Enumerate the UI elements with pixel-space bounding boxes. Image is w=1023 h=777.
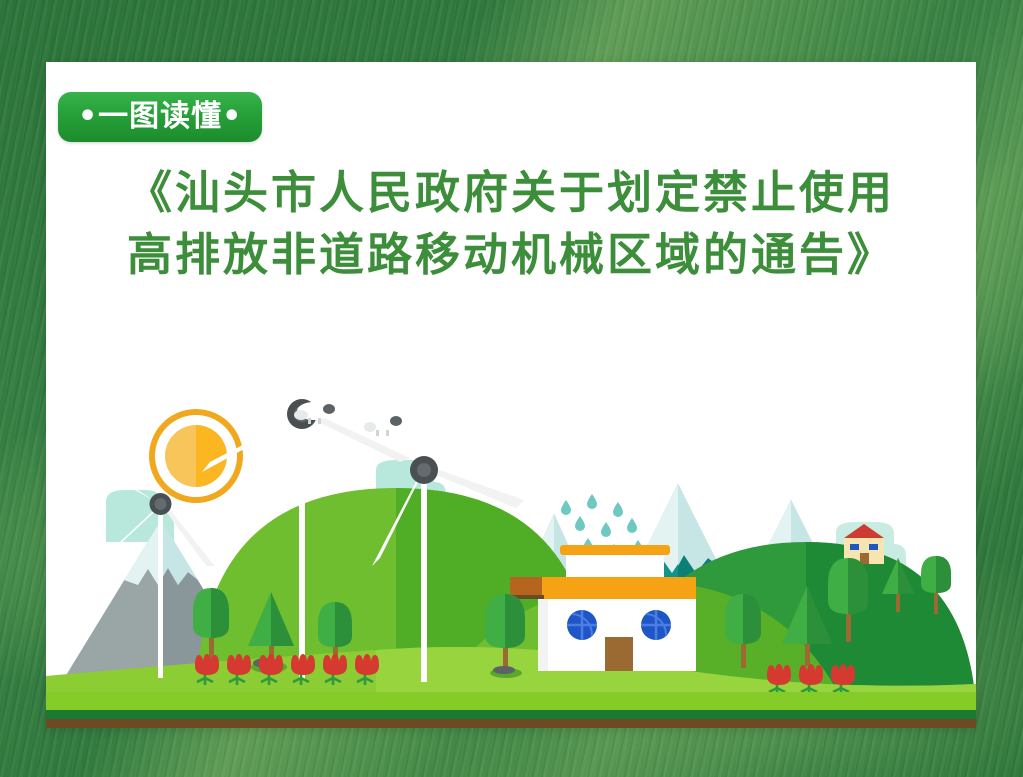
grass-strip [46,692,976,710]
screenshot-root: •一图读懂• 《汕头市人民政府关于划定禁止使用 高排放非道路移动机械区域的通告》 [0,0,1023,777]
soil-strip [46,719,976,728]
tulip-row-right [767,664,855,695]
infographic-badge-label: •一图读懂• [78,102,242,132]
page-title-line-2: 高排放非道路移动机械区域的通告》 [46,224,976,286]
content-card: •一图读懂• 《汕头市人民政府关于划定禁止使用 高排放非道路移动机械区域的通告》 [46,62,976,728]
eco-landscape-illustration [46,292,976,728]
infographic-badge: •一图读懂• [58,92,262,142]
building-window-left [567,610,597,640]
page-title-line-1: 《汕头市人民政府关于划定禁止使用 [46,162,976,224]
building-window-right [641,610,671,640]
page-title: 《汕头市人民政府关于划定禁止使用 高排放非道路移动机械区域的通告》 [46,162,976,286]
grass-strip-dark [46,710,976,719]
sheep-icon-right [364,414,402,436]
